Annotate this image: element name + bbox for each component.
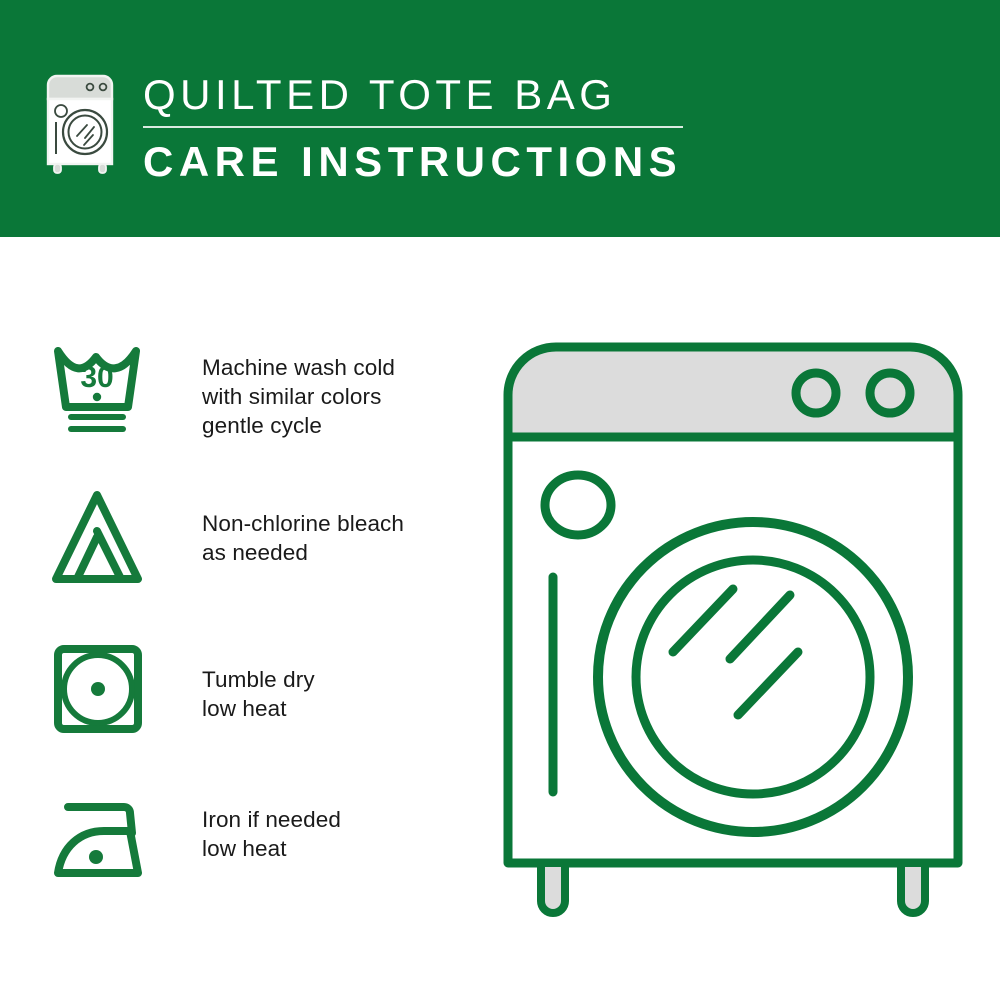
- care-row-machine-wash: 30 Machine wash cold with similar colors…: [52, 337, 472, 487]
- iron-low-heat-icon: [52, 787, 162, 891]
- care-text-machine-wash: Machine wash cold with similar colors ge…: [162, 337, 472, 440]
- header-banner: QUILTED TOTE BAG CARE INSTRUCTIONS: [0, 0, 1000, 237]
- front-load-washing-machine-illustration: [498, 337, 968, 927]
- content-area: 30 Machine wash cold with similar colors…: [0, 237, 1000, 1000]
- care-row-tumble-dry: Tumble dry low heat: [52, 637, 472, 787]
- care-text-iron: Iron if needed low heat: [162, 787, 472, 863]
- care-instruction-list: 30 Machine wash cold with similar colors…: [52, 337, 472, 937]
- page-title: QUILTED TOTE BAG: [143, 68, 703, 122]
- machine-wash-30-icon: 30: [52, 337, 162, 441]
- header-title-block: QUILTED TOTE BAG CARE INSTRUCTIONS: [143, 68, 703, 188]
- machine-leg-left: [541, 863, 565, 913]
- washing-machine-icon: [44, 72, 116, 176]
- care-text-tumble-dry: Tumble dry low heat: [162, 637, 472, 723]
- wash-temperature-label: 30: [80, 361, 113, 394]
- tumble-dry-low-heat-icon: [52, 637, 162, 741]
- care-instructions-infographic: QUILTED TOTE BAG CARE INSTRUCTIONS: [0, 0, 1000, 1000]
- care-text-bleach: Non-chlorine bleach as needed: [162, 487, 472, 567]
- care-row-iron: Iron if needed low heat: [52, 787, 472, 937]
- page-subtitle: CARE INSTRUCTIONS: [143, 136, 703, 188]
- machine-leg-right: [901, 863, 925, 913]
- non-chlorine-bleach-triangle-icon: [52, 487, 162, 591]
- machine-control-panel: [508, 347, 958, 437]
- care-row-bleach: Non-chlorine bleach as needed: [52, 487, 472, 637]
- title-divider: [143, 126, 683, 128]
